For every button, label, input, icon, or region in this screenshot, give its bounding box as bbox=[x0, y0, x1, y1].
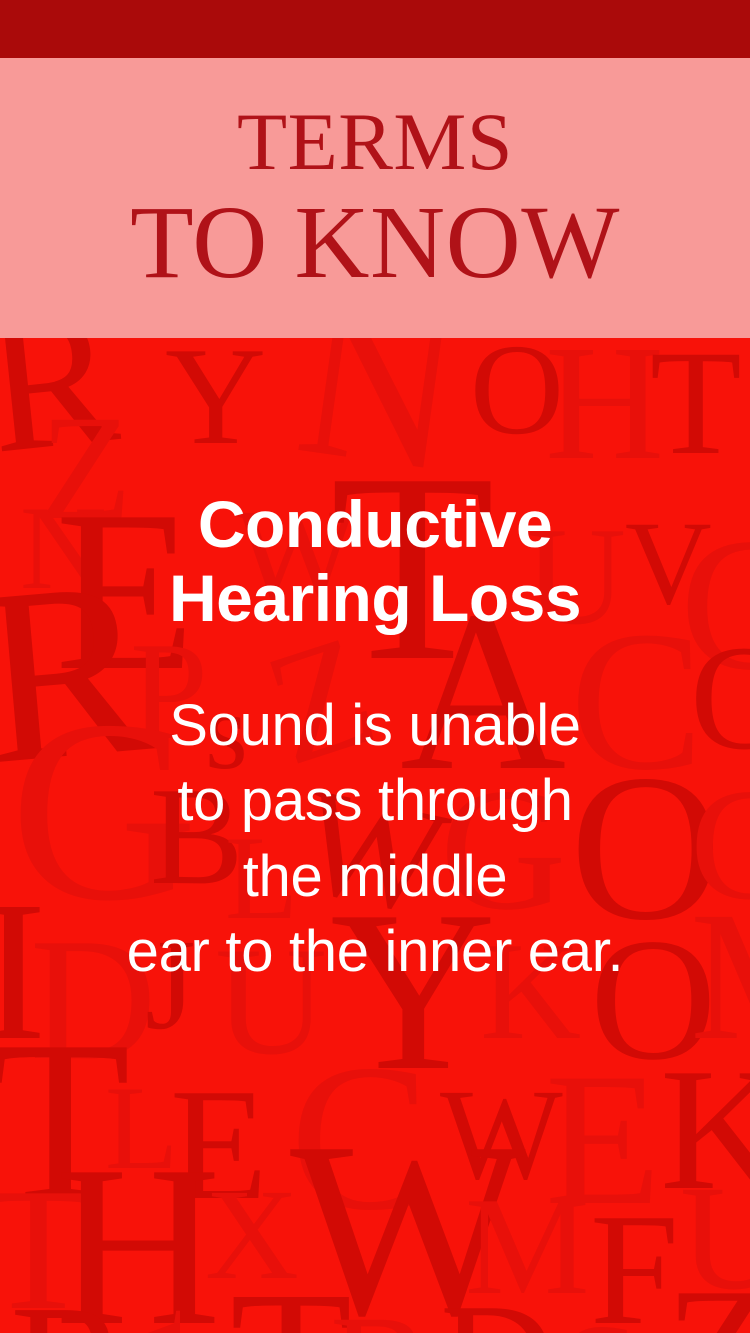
header-band: TERMS TO KNOW bbox=[0, 58, 750, 338]
term-description-line-3: the middle bbox=[15, 839, 735, 914]
term-description-line-1: Sound is unable bbox=[15, 688, 735, 763]
header-title-line-2: TO KNOW bbox=[130, 191, 620, 295]
term-title-line-2: Hearing Loss bbox=[169, 561, 581, 635]
header-title-line-1: TERMS bbox=[237, 101, 513, 183]
term-description-line-2: to pass through bbox=[15, 763, 735, 838]
term-title-line-1: Conductive bbox=[198, 487, 552, 561]
term-description-line-4: ear to the inner ear. bbox=[15, 914, 735, 989]
term-description: Sound is unable to pass through the midd… bbox=[15, 688, 735, 990]
top-accent-bar bbox=[0, 0, 750, 58]
term-title: Conductive Hearing Loss bbox=[55, 488, 695, 636]
poster-content: Conductive Hearing Loss Sound is unable … bbox=[0, 338, 750, 1333]
poster-canvas: TERMS TO KNOW R Z Y N O H T N E W T U V … bbox=[0, 0, 750, 1333]
main-body: R Z Y N O H T N E W T U V G R P s Z A bbox=[0, 338, 750, 1333]
